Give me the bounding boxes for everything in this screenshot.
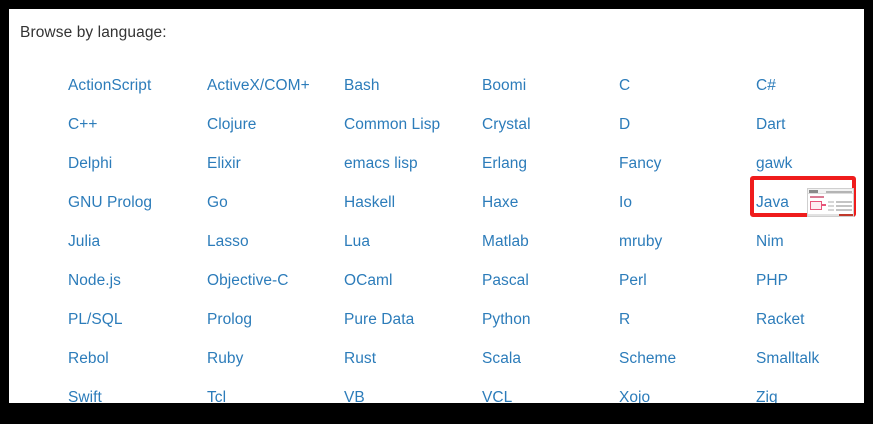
language-cell: VB — [344, 378, 482, 403]
language-cell: gawk — [756, 144, 858, 183]
language-link-julia[interactable]: Julia — [68, 232, 100, 252]
language-cell: PHP — [756, 261, 858, 300]
language-cell: Bash — [344, 66, 482, 105]
language-link-nim[interactable]: Nim — [756, 232, 784, 252]
language-link-d[interactable]: D — [619, 115, 630, 135]
language-cell: Crystal — [482, 105, 619, 144]
language-cell: Xojo — [619, 378, 756, 403]
language-link-go[interactable]: Go — [207, 193, 228, 213]
language-link-node-js[interactable]: Node.js — [68, 271, 121, 291]
thumbnail-text-line — [836, 201, 852, 203]
thumbnail-logo — [809, 190, 818, 193]
language-link-c[interactable]: C++ — [68, 115, 97, 135]
language-cell: Haxe — [482, 183, 619, 222]
language-cell: Scala — [482, 339, 619, 378]
language-cell: mruby — [619, 222, 756, 261]
language-link-pascal[interactable]: Pascal — [482, 271, 529, 291]
language-cell: Racket — [756, 300, 858, 339]
language-link-lua[interactable]: Lua — [344, 232, 370, 252]
language-cell: Smalltalk — [756, 339, 858, 378]
language-cell: Node.js — [68, 261, 207, 300]
language-link-tcl[interactable]: Tcl — [207, 388, 226, 404]
language-link-xojo[interactable]: Xojo — [619, 388, 650, 404]
language-link-boomi[interactable]: Boomi — [482, 76, 526, 96]
language-link-elixir[interactable]: Elixir — [207, 154, 241, 174]
language-cell: C++ — [68, 105, 207, 144]
language-link-objective-c[interactable]: Objective-C — [207, 271, 289, 291]
language-link-vb[interactable]: VB — [344, 388, 365, 404]
language-cell: Common Lisp — [344, 105, 482, 144]
language-cell: C — [619, 66, 756, 105]
language-cell: Go — [207, 183, 344, 222]
language-cell: Lasso — [207, 222, 344, 261]
language-cell: Python — [482, 300, 619, 339]
language-link-bash[interactable]: Bash — [344, 76, 380, 96]
language-cell: Lua — [344, 222, 482, 261]
language-link-python[interactable]: Python — [482, 310, 531, 330]
language-cell: OCaml — [344, 261, 482, 300]
thumbnail-footer-accent — [839, 214, 853, 216]
language-link-emacs-lisp[interactable]: emacs lisp — [344, 154, 418, 174]
language-cell: Prolog — [207, 300, 344, 339]
thumbnail-footer — [808, 214, 853, 216]
language-cell: Matlab — [482, 222, 619, 261]
language-link-io[interactable]: Io — [619, 193, 632, 213]
language-link-prolog[interactable]: Prolog — [207, 310, 252, 330]
language-link-c[interactable]: C# — [756, 76, 776, 96]
language-link-lasso[interactable]: Lasso — [207, 232, 249, 252]
language-cell: Pascal — [482, 261, 619, 300]
language-link-c[interactable]: C — [619, 76, 630, 96]
language-cell: C# — [756, 66, 858, 105]
language-link-actionscript[interactable]: ActionScript — [68, 76, 151, 96]
language-cell: emacs lisp — [344, 144, 482, 183]
language-cell: Pure Data — [344, 300, 482, 339]
language-cell: Rust — [344, 339, 482, 378]
language-cell: Erlang — [482, 144, 619, 183]
language-link-swift[interactable]: Swift — [68, 388, 102, 404]
language-link-smalltalk[interactable]: Smalltalk — [756, 349, 819, 369]
language-cell: ActiveX/COM+ — [207, 66, 344, 105]
language-cell: Boomi — [482, 66, 619, 105]
language-cell: Haskell — [344, 183, 482, 222]
language-link-fancy[interactable]: Fancy — [619, 154, 661, 174]
language-link-r[interactable]: R — [619, 310, 630, 330]
language-link-php[interactable]: PHP — [756, 271, 788, 291]
thumbnail-text-line — [828, 201, 834, 203]
page-content-card: Browse by language: ActionScriptActiveX/… — [9, 9, 864, 403]
page-title: Browse by language: — [20, 23, 167, 43]
language-link-perl[interactable]: Perl — [619, 271, 647, 291]
language-link-gnu-prolog[interactable]: GNU Prolog — [68, 193, 152, 213]
thumbnail-topbar — [808, 189, 853, 194]
language-cell: Clojure — [207, 105, 344, 144]
thumbnail-text-line — [828, 209, 834, 211]
language-cell: PL/SQL — [68, 300, 207, 339]
language-link-scheme[interactable]: Scheme — [619, 349, 676, 369]
language-link-ruby[interactable]: Ruby — [207, 349, 243, 369]
language-link-haskell[interactable]: Haskell — [344, 193, 395, 213]
language-cell: GNU Prolog — [68, 183, 207, 222]
language-link-ocaml[interactable]: OCaml — [344, 271, 392, 291]
language-link-racket[interactable]: Racket — [756, 310, 805, 330]
language-link-java[interactable]: Java — [756, 193, 789, 213]
language-link-pl-sql[interactable]: PL/SQL — [68, 310, 123, 330]
language-cell: Io — [619, 183, 756, 222]
language-cell: Delphi — [68, 144, 207, 183]
language-cell: ActionScript — [68, 66, 207, 105]
language-link-gawk[interactable]: gawk — [756, 154, 792, 174]
language-cell: Ruby — [207, 339, 344, 378]
language-link-pure-data[interactable]: Pure Data — [344, 310, 414, 330]
language-cell: Julia — [68, 222, 207, 261]
language-link-delphi[interactable]: Delphi — [68, 154, 112, 174]
language-link-scala[interactable]: Scala — [482, 349, 521, 369]
language-link-mruby[interactable]: mruby — [619, 232, 662, 252]
language-cell: Objective-C — [207, 261, 344, 300]
language-cell: R — [619, 300, 756, 339]
screenshot-frame: Browse by language: ActionScriptActiveX/… — [0, 0, 873, 424]
thumbnail-subheading — [810, 196, 824, 198]
language-link-matlab[interactable]: Matlab — [482, 232, 529, 252]
language-cell: Dart — [756, 105, 858, 144]
language-cell: Scheme — [619, 339, 756, 378]
language-cell: Zig — [756, 378, 858, 403]
language-link-rebol[interactable]: Rebol — [68, 349, 109, 369]
language-link-vcl[interactable]: VCL — [482, 388, 512, 404]
language-cell: Swift — [68, 378, 207, 403]
thumbnail-annotation-arrow — [821, 204, 826, 206]
language-cell: Perl — [619, 261, 756, 300]
language-link-clojure[interactable]: Clojure — [207, 115, 256, 135]
thumbnail-text-line — [836, 205, 852, 207]
language-link-erlang[interactable]: Erlang — [482, 154, 527, 174]
language-cell: VCL — [482, 378, 619, 403]
language-link-grid: ActionScriptActiveX/COM+BashBoomiCC#C++C… — [68, 66, 858, 403]
language-link-common-lisp[interactable]: Common Lisp — [344, 115, 440, 135]
thumbnail-text-line — [836, 209, 852, 211]
language-cell: Nim — [756, 222, 858, 261]
language-cell: Rebol — [68, 339, 207, 378]
language-link-crystal[interactable]: Crystal — [482, 115, 531, 135]
language-cell: Tcl — [207, 378, 344, 403]
language-link-zig[interactable]: Zig — [756, 388, 778, 404]
language-link-dart[interactable]: Dart — [756, 115, 785, 135]
language-cell: Fancy — [619, 144, 756, 183]
language-cell: D — [619, 105, 756, 144]
thumbnail-nav-links — [826, 191, 852, 193]
language-link-activex-com[interactable]: ActiveX/COM+ — [207, 76, 310, 96]
language-cell: Elixir — [207, 144, 344, 183]
page-preview-thumbnail-icon — [807, 188, 854, 217]
language-link-rust[interactable]: Rust — [344, 349, 376, 369]
language-link-haxe[interactable]: Haxe — [482, 193, 518, 213]
thumbnail-text-line — [828, 205, 834, 207]
